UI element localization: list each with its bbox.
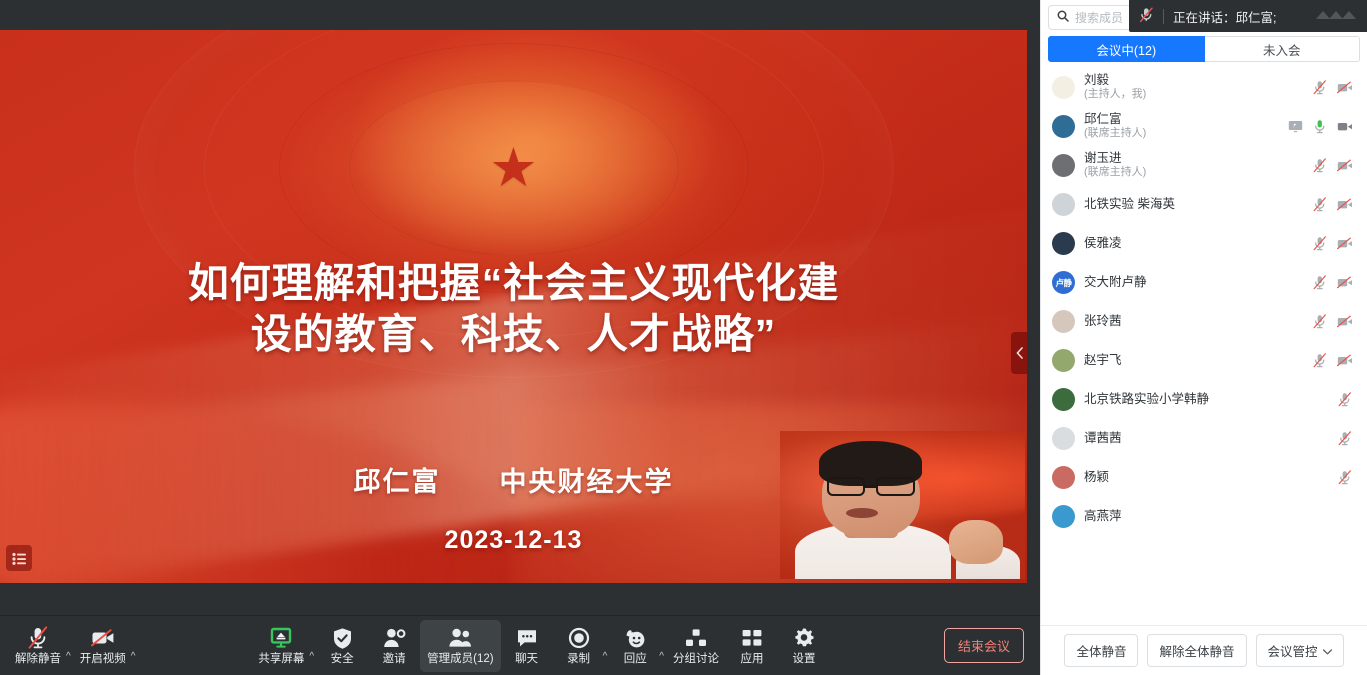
participant-row[interactable]: 杨颖 <box>1041 458 1367 497</box>
participant-status-icons <box>1312 236 1353 252</box>
avatar <box>1052 154 1075 177</box>
camera-muted-icon[interactable] <box>1337 275 1353 291</box>
toolbar-button-security[interactable]: 安全 <box>316 620 368 672</box>
camera-on-icon[interactable] <box>1337 119 1353 135</box>
participant-row[interactable]: 刘毅(主持人，我) <box>1041 68 1367 107</box>
microphone-muted-icon <box>1139 7 1154 26</box>
camera-muted-icon[interactable] <box>1337 314 1353 330</box>
microphone-muted-icon[interactable] <box>1312 236 1328 252</box>
participant-info: 北铁实验 柴海英 <box>1084 197 1303 213</box>
participant-name: 北京铁路实验小学韩静 <box>1084 392 1328 408</box>
avatar <box>1052 115 1075 138</box>
toolbar-label: 安全 <box>331 653 354 666</box>
toolbar-button-invite[interactable]: 邀请 <box>368 620 420 672</box>
screen-share-icon[interactable] <box>1287 119 1303 135</box>
participant-status-icons <box>1312 80 1353 96</box>
participant-status-icons <box>1337 392 1353 408</box>
toolbar-button-settings[interactable]: 设置 <box>778 620 830 672</box>
shared-slide: 如何理解和把握“社会主义现代化建 设的教育、科技、人才战略” 邱仁富 中央财经大… <box>0 30 1027 583</box>
avatar <box>1052 427 1075 450</box>
toolbar-button-reactions[interactable]: 回应 <box>609 620 661 672</box>
microphone-muted-icon[interactable] <box>1312 353 1328 369</box>
participant-row[interactable]: 侯雅凌 <box>1041 224 1367 263</box>
camera-muted-icon[interactable] <box>1337 236 1353 252</box>
slide-title-line-1: 如何理解和把握“社会主义现代化建 <box>72 258 955 309</box>
invite-person-icon <box>383 626 406 650</box>
avatar <box>1052 310 1075 333</box>
microphone-muted-icon[interactable] <box>1337 470 1353 486</box>
participant-row[interactable]: 北京铁路实验小学韩静 <box>1041 380 1367 419</box>
slide-title: 如何理解和把握“社会主义现代化建 设的教育、科技、人才战略” <box>0 258 1027 360</box>
camera-muted-icon <box>90 626 116 650</box>
slide-author-org: 中央财经大学 <box>500 467 674 497</box>
toast-divider <box>1163 9 1164 24</box>
participant-row[interactable]: 赵宇飞 <box>1041 341 1367 380</box>
participant-name: 侯雅凌 <box>1084 236 1303 252</box>
participant-role: (联席主持人) <box>1084 166 1303 180</box>
toolbar-button-share-screen[interactable]: 共享屏幕 <box>251 620 311 672</box>
camera-muted-icon[interactable] <box>1337 197 1353 213</box>
speaking-text: 正在讲话：邱仁富; <box>1173 7 1276 26</box>
mute-all-button[interactable]: 全体静音 <box>1064 634 1138 667</box>
gear-icon <box>793 626 815 650</box>
participant-row[interactable]: 谭茜茜 <box>1041 419 1367 458</box>
participant-name: 谭茜茜 <box>1084 431 1328 447</box>
participant-role: (主持人，我) <box>1084 88 1303 102</box>
avatar <box>1052 349 1075 372</box>
participant-row[interactable]: 高燕萍 <box>1041 497 1367 536</box>
microphone-muted-icon[interactable] <box>1337 392 1353 408</box>
participants-panel: 正在讲话：邱仁富; 会议中(12) 未入会 刘毅(主持人，我)邱仁富(联席主持人… <box>1040 0 1367 675</box>
avatar <box>1052 193 1075 216</box>
toolbar-label: 解除静音 <box>15 653 61 666</box>
toolbar-label: 回应 <box>624 653 647 666</box>
audio-wave-icon <box>1314 8 1358 24</box>
participant-status-icons <box>1312 275 1353 291</box>
microphone-muted-icon[interactable] <box>1312 80 1328 96</box>
toolbar-label: 设置 <box>792 653 815 666</box>
meeting-controls-button[interactable]: 会议管控 <box>1256 634 1344 667</box>
microphone-active-icon[interactable] <box>1312 119 1328 135</box>
toolbar-button-record[interactable]: 录制 <box>553 620 605 672</box>
participant-name: 谢玉进 <box>1084 151 1303 167</box>
participant-name: 高燕萍 <box>1084 509 1344 525</box>
participant-status-icons <box>1312 158 1353 174</box>
toolbar-button-start-video[interactable]: 开启视频 <box>73 620 133 672</box>
participant-row[interactable]: 北铁实验 柴海英 <box>1041 185 1367 224</box>
shield-icon <box>332 626 353 650</box>
avatar <box>1052 388 1075 411</box>
participant-status-icons <box>1287 119 1353 135</box>
participant-info: 高燕萍 <box>1084 509 1344 525</box>
participants-footer: 全体静音 解除全体静音 会议管控 <box>1041 625 1367 675</box>
toolbar-label: 分组讨论 <box>673 653 719 666</box>
participants-tabs: 会议中(12) 未入会 <box>1048 36 1360 62</box>
toolbar-label: 开启视频 <box>80 653 126 666</box>
meeting-controls-label: 会议管控 <box>1268 641 1318 660</box>
toolbar-button-unmute[interactable]: 解除静音 <box>8 620 68 672</box>
participant-info: 杨颖 <box>1084 470 1328 486</box>
participant-info: 邱仁富(联席主持人) <box>1084 112 1278 141</box>
stage-top-bar <box>0 0 1040 30</box>
participant-status-icons <box>1312 197 1353 213</box>
participant-name: 刘毅 <box>1084 73 1303 89</box>
participant-name: 邱仁富 <box>1084 112 1278 128</box>
avatar <box>1052 505 1075 528</box>
record-icon <box>568 626 590 650</box>
apps-grid-icon <box>741 626 763 650</box>
microphone-muted-icon[interactable] <box>1337 431 1353 447</box>
end-meeting-button[interactable]: 结束会议 <box>944 628 1024 663</box>
presenter-video-thumbnail[interactable] <box>780 431 1025 579</box>
meeting-toolbar: 解除静音 ^ 开启视频 ^ <box>0 615 1040 675</box>
participant-info: 张玲茜 <box>1084 314 1303 330</box>
participant-row[interactable]: 卢静交大附卢静 <box>1041 263 1367 302</box>
share-screen-icon <box>269 626 293 650</box>
participant-info: 谭茜茜 <box>1084 431 1328 447</box>
participant-info: 谢玉进(联席主持人) <box>1084 151 1303 180</box>
chevron-left-icon[interactable] <box>1011 332 1027 374</box>
toolbar-label: 录制 <box>567 653 590 666</box>
participant-info: 北京铁路实验小学韩静 <box>1084 392 1328 408</box>
unmute-all-button[interactable]: 解除全体静音 <box>1147 634 1246 667</box>
breakout-rooms-icon <box>685 626 707 650</box>
toolbar-label: 聊天 <box>515 653 538 666</box>
toolbar-button-participants[interactable]: 管理成员(12) <box>420 620 500 672</box>
participant-status-icons <box>1312 314 1353 330</box>
avatar <box>1052 466 1075 489</box>
avatar: 卢静 <box>1052 271 1075 294</box>
toolbar-button-chat[interactable]: 聊天 <box>501 620 553 672</box>
participant-info: 赵宇飞 <box>1084 353 1303 369</box>
search-icon <box>1057 9 1069 27</box>
microphone-muted-icon[interactable] <box>1312 314 1328 330</box>
meeting-app-window: 如何理解和把握“社会主义现代化建 设的教育、科技、人才战略” 邱仁富 中央财经大… <box>0 0 1367 675</box>
video-stage: 如何理解和把握“社会主义现代化建 设的教育、科技、人才战略” 邱仁富 中央财经大… <box>0 0 1040 675</box>
participant-status-icons <box>1312 353 1353 369</box>
participant-row[interactable]: 张玲茜 <box>1041 302 1367 341</box>
participant-role: (联席主持人) <box>1084 127 1278 141</box>
microphone-muted-icon[interactable] <box>1312 158 1328 174</box>
avatar <box>1052 232 1075 255</box>
participant-name: 杨颖 <box>1084 470 1328 486</box>
slide-title-line-2: 设的教育、科技、人才战略” <box>72 309 955 360</box>
tab-not-joined[interactable]: 未入会 <box>1205 36 1361 62</box>
participant-info: 侯雅凌 <box>1084 236 1303 252</box>
avatar <box>1052 76 1075 99</box>
participant-name: 交大附卢静 <box>1084 275 1303 291</box>
list-menu-icon[interactable] <box>6 545 32 571</box>
toolbar-label: 邀请 <box>383 653 406 666</box>
participant-info: 刘毅(主持人，我) <box>1084 73 1303 102</box>
toolbar-button-breakout-rooms[interactable]: 分组讨论 <box>666 620 726 672</box>
participant-info: 交大附卢静 <box>1084 275 1303 291</box>
camera-muted-icon[interactable] <box>1337 80 1353 96</box>
reaction-icon <box>624 626 647 650</box>
microphone-muted-icon[interactable] <box>1312 197 1328 213</box>
microphone-muted-icon[interactable] <box>1312 275 1328 291</box>
chevron-down-icon <box>1323 644 1332 658</box>
participant-name: 赵宇飞 <box>1084 353 1303 369</box>
participant-status-icons <box>1337 470 1353 486</box>
participant-row[interactable]: 邱仁富(联席主持人) <box>1041 107 1367 146</box>
speaking-indicator-toast: 正在讲话：邱仁富; <box>1129 0 1367 32</box>
toolbar-label: 应用 <box>740 653 763 666</box>
chat-bubble-icon <box>516 626 538 650</box>
microphone-muted-icon <box>27 626 49 650</box>
participant-row[interactable]: 谢玉进(联席主持人) <box>1041 146 1367 185</box>
slide-author-name: 邱仁富 <box>353 467 440 497</box>
camera-muted-icon[interactable] <box>1337 158 1353 174</box>
participant-name: 张玲茜 <box>1084 314 1303 330</box>
camera-muted-icon[interactable] <box>1337 353 1353 369</box>
participants-icon <box>448 626 473 650</box>
tab-in-meeting[interactable]: 会议中(12) <box>1048 36 1205 62</box>
toolbar-label: 共享屏幕 <box>258 653 304 666</box>
participants-list[interactable]: 刘毅(主持人，我)邱仁富(联席主持人)谢玉进(联席主持人)北铁实验 柴海英侯雅凌… <box>1041 62 1367 625</box>
participant-status-icons <box>1337 431 1353 447</box>
participant-name: 北铁实验 柴海英 <box>1084 197 1303 213</box>
toolbar-button-apps[interactable]: 应用 <box>726 620 778 672</box>
toolbar-label: 管理成员(12) <box>427 653 493 666</box>
